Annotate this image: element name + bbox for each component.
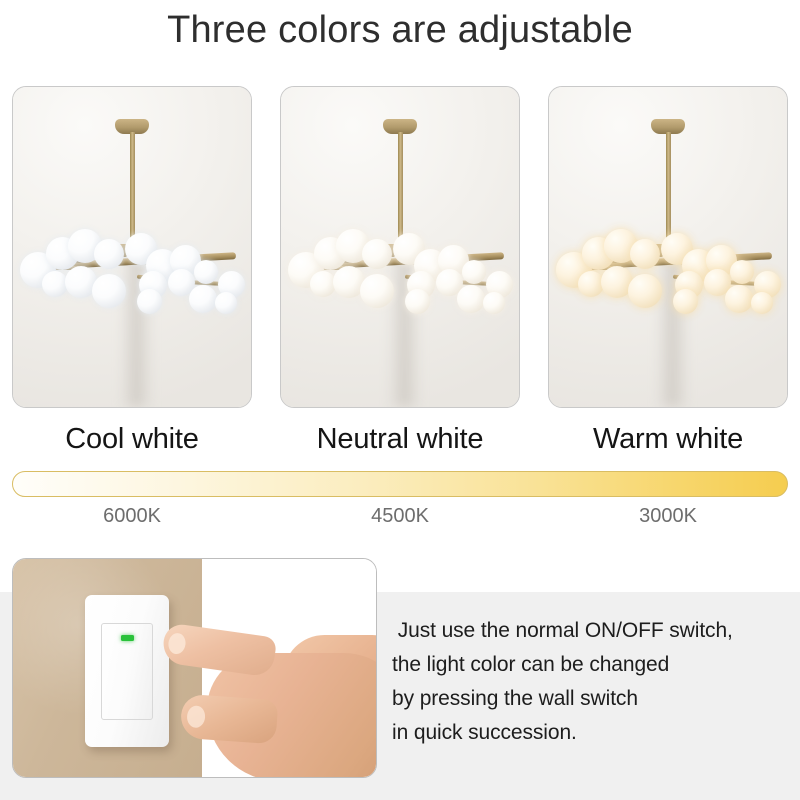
color-panel-neutral-white[interactable] bbox=[280, 86, 520, 408]
panel-label-cool-white: Cool white bbox=[12, 418, 252, 460]
temperature-value-6000k: 6000K bbox=[12, 503, 252, 529]
instruction-text-block: Just use the normal ON/OFF switch, the l… bbox=[392, 614, 792, 750]
chandelier-photo-warm-white bbox=[548, 86, 788, 408]
color-panel-cool-white[interactable] bbox=[12, 86, 252, 408]
light-globe bbox=[628, 274, 662, 308]
hand-index-finger bbox=[161, 622, 277, 677]
light-globe bbox=[405, 289, 430, 314]
switch-rocker-paddle[interactable] bbox=[101, 623, 153, 720]
light-globe bbox=[194, 260, 218, 284]
light-globe bbox=[92, 274, 126, 308]
light-globe bbox=[215, 292, 237, 314]
light-globe bbox=[362, 239, 392, 269]
switch-led-indicator-icon bbox=[121, 635, 134, 641]
light-globe bbox=[730, 260, 754, 284]
wall-switch-photo bbox=[12, 558, 377, 778]
hand-middle-finger bbox=[180, 694, 279, 745]
light-globe bbox=[578, 271, 604, 297]
light-globe bbox=[137, 289, 162, 314]
light-globe bbox=[462, 260, 486, 284]
panel-label-neutral-white: Neutral white bbox=[280, 418, 520, 460]
light-globe bbox=[483, 292, 505, 314]
light-globe bbox=[94, 239, 124, 269]
light-globe bbox=[751, 292, 773, 314]
chandelier-photo-cool-white bbox=[12, 86, 252, 408]
instruction-line-1: Just use the normal ON/OFF switch, bbox=[392, 614, 792, 648]
light-globe bbox=[42, 271, 68, 297]
color-temperature-gradient-bar[interactable] bbox=[12, 471, 788, 497]
chandelier-photo-neutral-white bbox=[280, 86, 520, 408]
temperature-value-row: 6000K 4500K 3000K bbox=[12, 503, 788, 529]
light-globe bbox=[360, 274, 394, 308]
temperature-value-3000k: 3000K bbox=[548, 503, 788, 529]
light-globe bbox=[673, 289, 698, 314]
panel-label-row: Cool white Neutral white Warm white bbox=[12, 418, 788, 460]
instruction-line-3: by pressing the wall switch bbox=[392, 682, 792, 716]
color-panel-warm-white[interactable] bbox=[548, 86, 788, 408]
light-globe bbox=[310, 271, 336, 297]
panel-label-warm-white: Warm white bbox=[548, 418, 788, 460]
light-globe bbox=[630, 239, 660, 269]
instruction-line-4: in quick succession. bbox=[392, 716, 792, 750]
color-panel-group bbox=[12, 86, 788, 408]
page-title: Three colors are adjustable bbox=[0, 8, 800, 54]
hand-illustration bbox=[163, 617, 377, 778]
temperature-value-4500k: 4500K bbox=[280, 503, 520, 529]
switch-wall-plate[interactable] bbox=[85, 595, 169, 747]
instruction-line-2: the light color can be changed bbox=[392, 648, 792, 682]
